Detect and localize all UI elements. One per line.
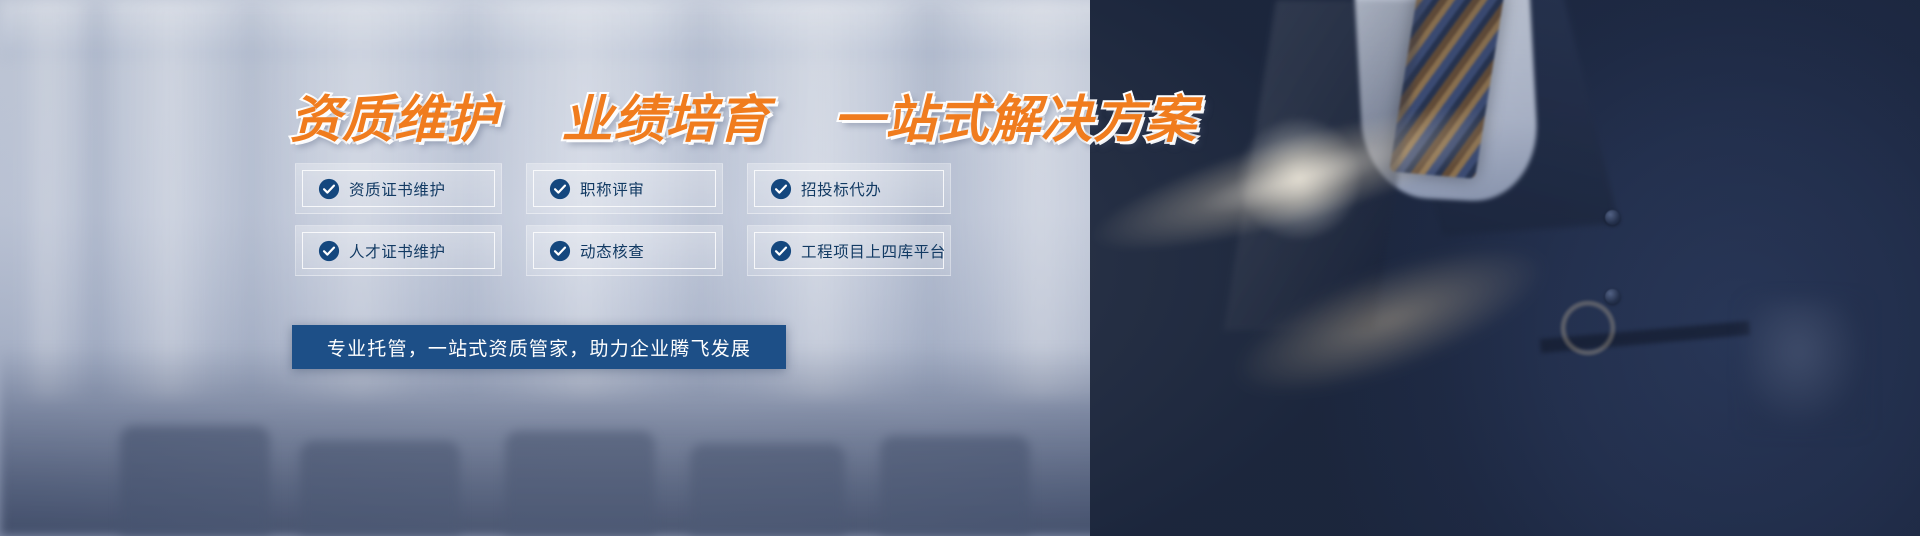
check-circle-icon [770, 178, 792, 200]
feature-label: 招投标代办 [801, 178, 882, 200]
feature-pill-title-review[interactable]: 职称评审 [526, 163, 723, 214]
feature-label: 资质证书维护 [349, 178, 446, 200]
feature-pill-talent-cert[interactable]: 人才证书维护 [295, 225, 502, 276]
cta-slogan-text: 专业托管，一站式资质管家，助力企业腾飞发展 [327, 334, 751, 361]
feature-row-1: 资质证书维护 职称评审 [295, 163, 951, 214]
check-circle-icon [770, 240, 792, 262]
feature-pill-bidding-agency[interactable]: 招投标代办 [747, 163, 951, 214]
check-circle-icon [318, 178, 340, 200]
check-circle-icon [549, 240, 571, 262]
feature-label: 人才证书维护 [349, 240, 446, 262]
headline-part-1: 资质维护 [290, 91, 498, 150]
check-circle-icon [549, 178, 571, 200]
headline-part-2: 业绩培育 [562, 91, 770, 150]
feature-pill-dynamic-check[interactable]: 动态核查 [526, 225, 723, 276]
feature-grid: 资质证书维护 职称评审 [295, 163, 951, 276]
feature-label: 工程项目上四库平台 [801, 240, 946, 262]
feature-label: 动态核查 [580, 240, 644, 262]
hand-in-pocket [1745, 300, 1865, 430]
check-circle-icon [318, 240, 340, 262]
headline-part-3: 一站式解决方案 [833, 91, 1197, 150]
feature-label: 职称评审 [580, 178, 644, 200]
cta-slogan-bar[interactable]: 专业托管，一站式资质管家，助力企业腾飞发展 [292, 325, 786, 369]
feature-row-2: 人才证书维护 动态核查 [295, 225, 951, 276]
feature-pill-four-library-platform[interactable]: 工程项目上四库平台 [747, 225, 951, 276]
banner-content: 资质维护 业绩培育 一站式解决方案 资质证书维护 [0, 0, 1180, 536]
hero-banner: 资质维护 业绩培育 一站式解决方案 资质证书维护 [0, 0, 1920, 536]
banner-headline: 资质维护 业绩培育 一站式解决方案 [290, 78, 1197, 152]
feature-pill-qualification-cert[interactable]: 资质证书维护 [295, 163, 502, 214]
